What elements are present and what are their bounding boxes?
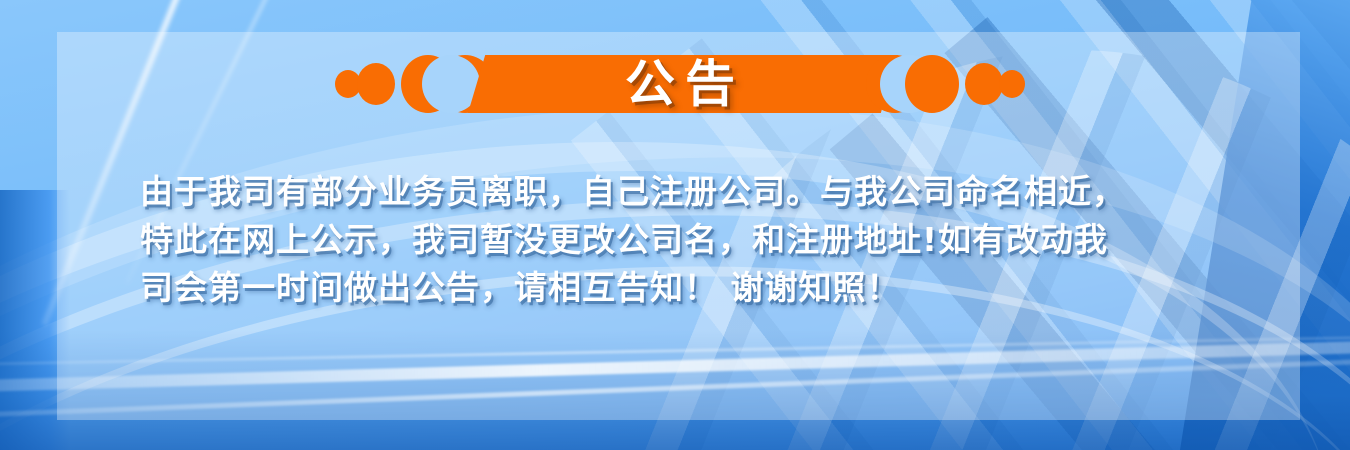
notice-body: 由于我司有部分业务员离职，自己注册公司。与我公司命名相近， 特此在网上公示，我司… bbox=[140, 168, 1230, 312]
notice-line: 由于我司有部分业务员离职，自己注册公司。与我公司命名相近， bbox=[140, 168, 1230, 216]
page-title: 公告 bbox=[335, 50, 1025, 118]
left-dark-column bbox=[0, 190, 70, 450]
bottom-light-streak-2 bbox=[0, 356, 1350, 419]
notice-line: 特此在网上公示，我司暂没更改公司名，和注册地址!如有改动我 bbox=[140, 216, 1230, 264]
bottom-shadow-band bbox=[0, 330, 1350, 450]
title-ribbon: 公告 bbox=[335, 50, 1025, 118]
notice-line: 司会第一时间做出公告，请相互告知！ 谢谢知照！ bbox=[140, 264, 1230, 312]
corner-light-burst-icon bbox=[0, 0, 220, 160]
bottom-light-streak-3 bbox=[0, 335, 1350, 367]
announcement-banner: 公告 由于我司有部分业务员离职，自己注册公司。与我公司命名相近， 特此在网上公示… bbox=[0, 0, 1350, 450]
bottom-light-streak-1 bbox=[0, 339, 1350, 393]
